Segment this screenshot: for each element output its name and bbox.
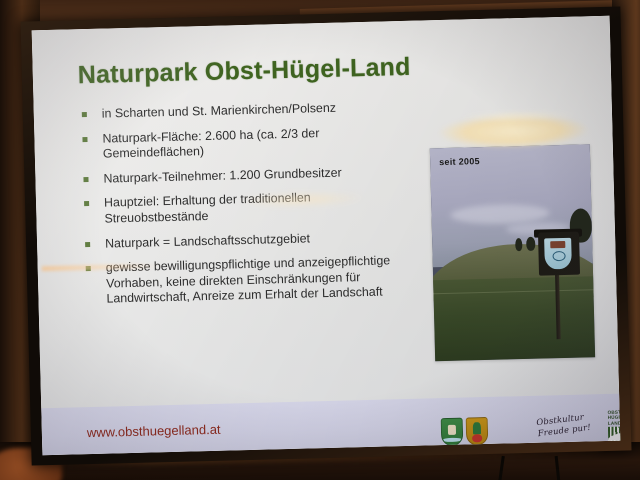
bullet-square-icon	[82, 112, 87, 117]
slide-photo: seit 2005	[430, 144, 595, 361]
bullet-square-icon	[82, 137, 87, 142]
list-item-text: Naturpark-Teilnehmer: 1.200 Grundbesitze…	[103, 165, 342, 185]
list-item-text: gewisse bewilligungspflichtige und anzei…	[106, 254, 391, 306]
presentation-screen[interactable]: Naturpark Obst-Hügel-Land in Scharten un…	[20, 6, 631, 465]
list-item-text: Hauptziel: Erhaltung der traditionellen …	[104, 191, 311, 226]
brand-mark-icon	[608, 426, 620, 444]
list-item-text: Naturpark = Landschaftsschutzgebiet	[105, 231, 310, 250]
brand-word-land: LAND	[608, 420, 621, 426]
slide: Naturpark Obst-Hügel-Land in Scharten un…	[32, 16, 621, 455]
bullet-square-icon	[83, 177, 88, 182]
list-item: Naturpark-Teilnehmer: 1.200 Grundbesitze…	[81, 164, 411, 188]
list-item: Hauptziel: Erhaltung der traditionellen …	[82, 188, 413, 228]
crest-scharten-icon	[441, 418, 462, 444]
list-item: gewisse bewilligungspflichtige und anzei…	[84, 253, 415, 308]
bullet-square-icon	[85, 242, 90, 247]
list-item: Naturpark = Landschaftsschutzgebiet	[83, 228, 413, 252]
list-item-text: Naturpark-Fläche: 2.600 ha (ca. 2/3 der …	[102, 126, 319, 161]
naturpark-sign-shield-icon	[544, 237, 572, 269]
room-scene: Naturpark Obst-Hügel-Land in Scharten un…	[0, 0, 640, 480]
bullet-square-icon	[86, 266, 91, 271]
bullet-square-icon	[84, 201, 89, 206]
crest-st-marienkirchen-icon	[466, 417, 487, 443]
brand-subtitle: NATURPARK	[608, 444, 620, 450]
screen-surface[interactable]: Naturpark Obst-Hügel-Land in Scharten un…	[32, 16, 621, 455]
bullet-list: in Scharten und St. Marienkirchen/Polsen…	[80, 99, 415, 317]
naturpark-logo: OBST HÜGEL LAND NATURPARK	[607, 409, 620, 446]
photo-caption: seit 2005	[439, 156, 480, 167]
list-item: Naturpark-Fläche: 2.600 ha (ca. 2/3 der …	[80, 123, 411, 163]
